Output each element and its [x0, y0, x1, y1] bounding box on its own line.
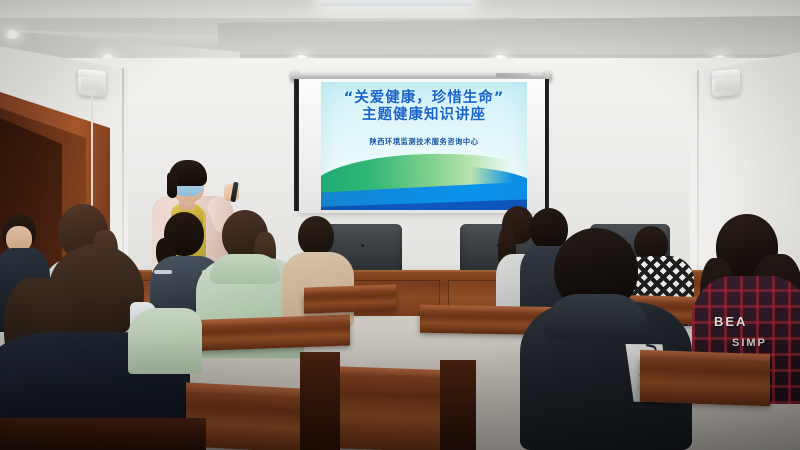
wall-speaker-left: [78, 69, 106, 97]
jacket-text-line2: SIMP: [732, 337, 767, 349]
attendee-black-hoodie: PSU: [520, 228, 692, 450]
projected-slide: “关爱健康，珍惜生命” 主题健康知识讲座 陕西环境监测技术服务咨询中心: [321, 82, 527, 210]
slide-organization: 陕西环境监测技术服务咨询中心: [321, 137, 527, 147]
attendee-green-sleeve: [128, 308, 202, 374]
presenter-hair-side: [167, 172, 177, 198]
speaker-cable-left: [91, 96, 93, 214]
lecture-room-photo: “关爱健康，珍惜生命” 主题健康知识讲座 陕西环境监测技术服务咨询中心: [0, 0, 800, 450]
foreground-bench: [640, 358, 770, 407]
bench: [304, 290, 396, 313]
slide-text-block: “关爱健康，珍惜生命” 主题健康知识讲座 陕西环境监测技术服务咨询中心: [321, 90, 527, 147]
foreground-bench-shadow: [440, 360, 476, 450]
fluorescent-light-panel: [320, 0, 476, 6]
jacket-text-line1: BEA: [714, 314, 747, 329]
foreground-bench: [330, 374, 440, 450]
wall-speaker-right: [712, 69, 740, 97]
hoodie-hood: [210, 254, 280, 284]
hoodie-hood: [544, 294, 648, 340]
slide-title-line1: “关爱健康，珍惜生命”: [321, 90, 527, 107]
arm: [128, 308, 202, 374]
foreground-floor-shadow: [0, 418, 206, 450]
downlight-icon: [4, 30, 21, 39]
head: [298, 216, 334, 256]
slide-title-line2: 主题健康知识讲座: [321, 107, 527, 124]
housing-brand-logo: [496, 73, 530, 77]
foreground-bench-shadow: [300, 352, 340, 450]
